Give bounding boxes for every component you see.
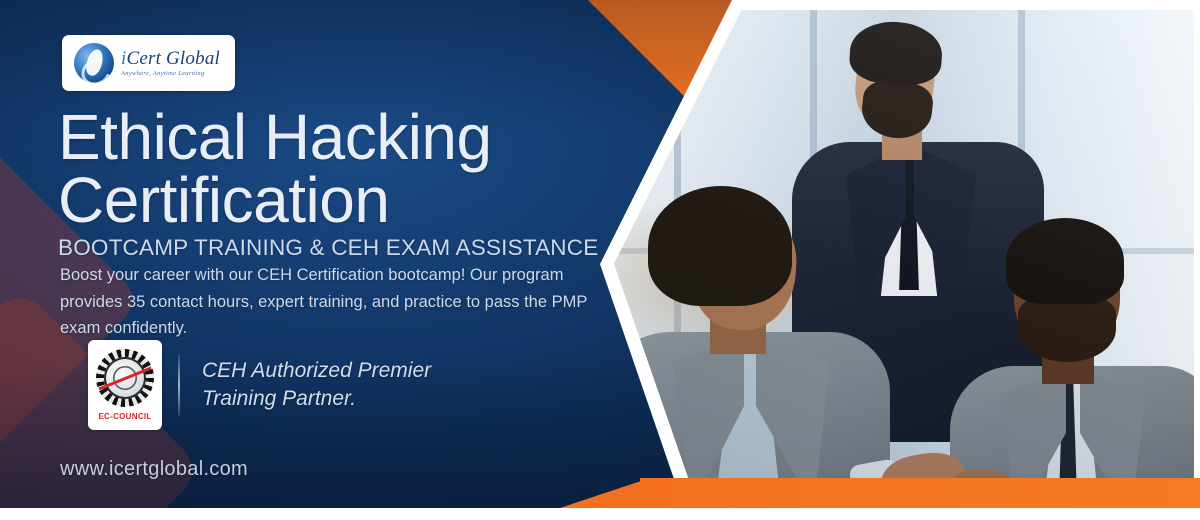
partner-text-line-1: CEH Authorized Premier: [202, 357, 431, 385]
promo-banner: iCert Global Anywhere, Anytime Learning …: [0, 0, 1200, 520]
brand-name-rest: Cert Global: [126, 48, 220, 69]
partner-divider: [178, 354, 180, 416]
website-url[interactable]: www.icertglobal.com: [60, 458, 248, 481]
headline-line-2: Certification: [58, 169, 628, 232]
body-copy: Boost your career with our CEH Certifica…: [60, 262, 605, 342]
brand-name: iCert Global: [121, 49, 220, 68]
partner-text-line-2: Training Partner.: [202, 385, 431, 413]
brand-logo[interactable]: iCert Global Anywhere, Anytime Learning: [62, 35, 235, 91]
ec-council-seal-icon: EC-COUNCIL: [88, 340, 162, 430]
globe-swoosh-icon: [74, 43, 114, 83]
page-title: Ethical Hacking Certification: [58, 106, 628, 231]
subheading: BOOTCAMP TRAINING & CEH EXAM ASSISTANCE: [58, 235, 598, 261]
headline-line-1: Ethical Hacking: [58, 101, 492, 173]
partner-block: EC-COUNCIL CEH Authorized Premier Traini…: [88, 340, 431, 430]
ec-council-ring: [96, 349, 154, 407]
ec-council-label: EC-COUNCIL: [98, 412, 151, 421]
brand-tagline: Anywhere, Anytime Learning: [121, 71, 220, 78]
content-column: iCert Global Anywhere, Anytime Learning …: [0, 0, 640, 520]
brand-logo-text: iCert Global Anywhere, Anytime Learning: [121, 49, 220, 78]
orange-bar-bottom-decoration: [640, 478, 1200, 508]
partner-text: CEH Authorized Premier Training Partner.: [202, 357, 431, 412]
